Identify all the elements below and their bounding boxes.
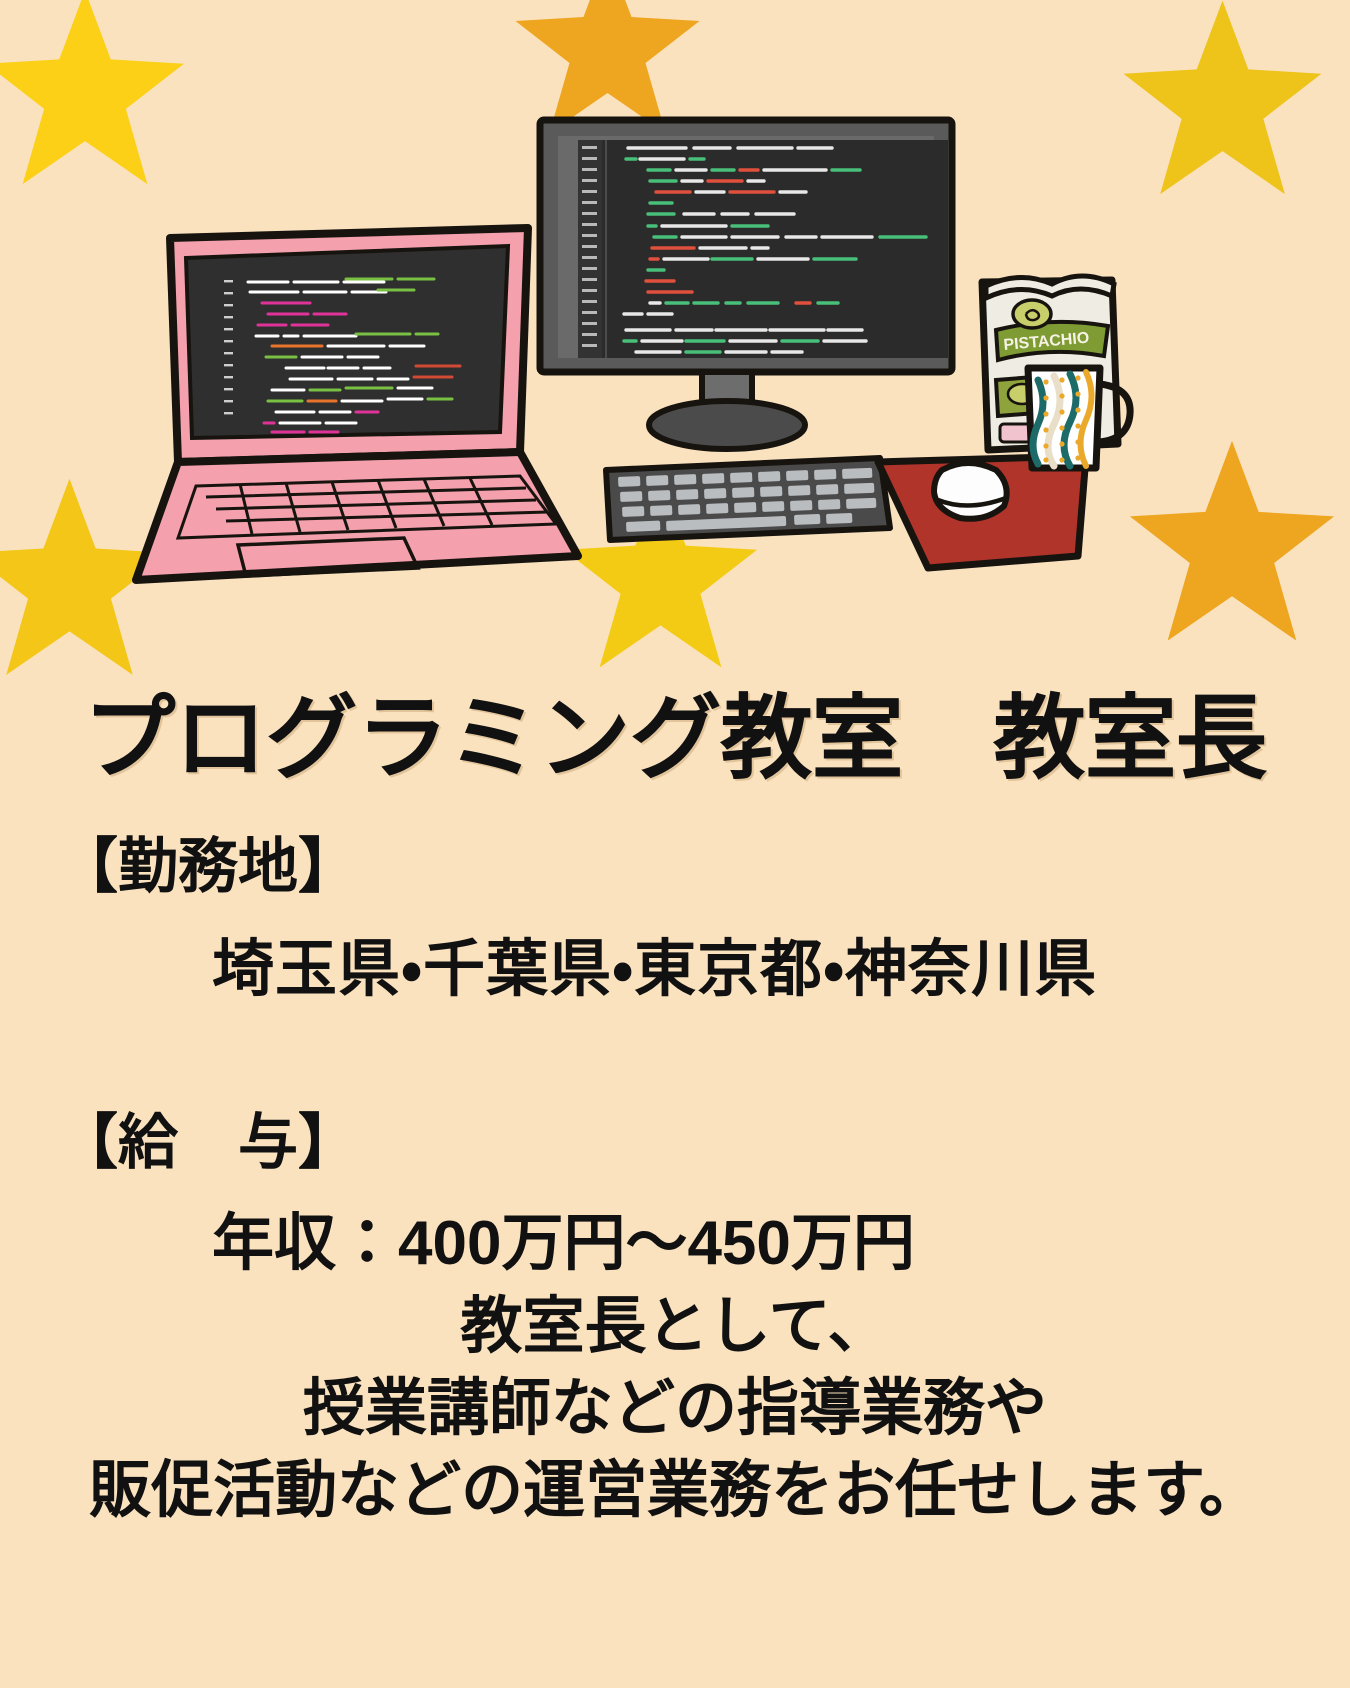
salary-value: 年収：400万円～450万円 (212, 1192, 915, 1282)
keyboard (606, 458, 890, 540)
poster-root: PISTACHIO (0, 0, 1350, 1688)
page-title: プログラミング教室 教室長 (0, 664, 1350, 797)
desktop-monitor (540, 120, 952, 449)
work-location-label: 【勤務地】 (58, 818, 358, 905)
desk-workstation-illustration: PISTACHIO (0, 0, 1350, 660)
description-line-3: 販促活動などの運営業務をお任せします。 (0, 1450, 1350, 1532)
job-description: 教室長として、 授業講師などの指導業務や 販促活動などの運営業務をお任せします。 (0, 1286, 1350, 1531)
mouse (934, 463, 1007, 519)
pink-laptop (136, 228, 578, 580)
work-location-value: 埼玉県・千葉県・東京都・神奈川県 (212, 918, 1097, 1008)
description-line-1: 教室長として、 (0, 1286, 1350, 1368)
salary-label: 【給 与】 (58, 1094, 358, 1181)
poster-text-area: プログラミング教室 教室長 【勤務地】 埼玉県・千葉県・東京都・神奈川県 【給 … (0, 650, 1350, 1688)
description-line-2: 授業講師などの指導業務や (0, 1368, 1350, 1450)
